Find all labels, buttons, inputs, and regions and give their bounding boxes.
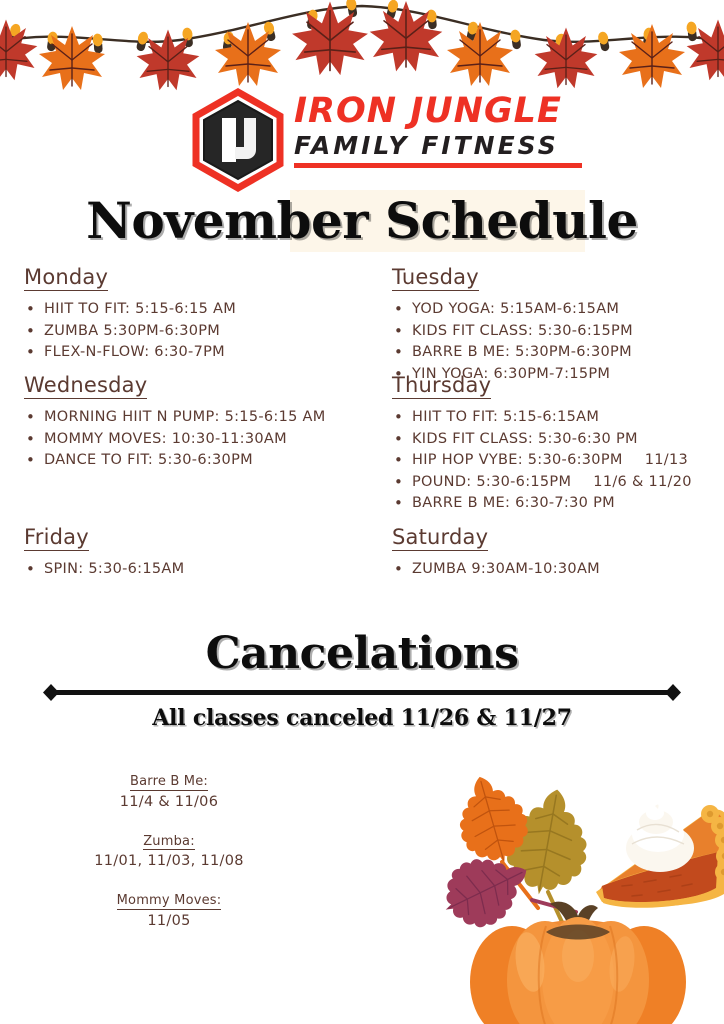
class-dates: 11/6 & 11/20 xyxy=(571,474,691,490)
day-heading-thursday: Thursday xyxy=(392,373,491,399)
class-label: DANCE TO FIT: 5:30-6:30PM xyxy=(44,452,253,468)
schedule-column-left: Monday HIIT TO FIT: 5:15-6:15 AM ZUMBA 5… xyxy=(24,265,374,515)
class-label: BARRE B ME: 5:30PM-6:30PM xyxy=(412,344,632,360)
logo-underline-rule xyxy=(294,163,582,168)
cancelation-group: Mommy Moves: 11/05 xyxy=(44,891,294,929)
day-block-monday: Monday HIIT TO FIT: 5:15-6:15 AM ZUMBA 5… xyxy=(24,265,236,364)
class-label: ZUMBA 9:30AM-10:30AM xyxy=(412,561,600,577)
autumn-bottom-decoration xyxy=(430,742,724,1024)
class-dates: 11/13 xyxy=(623,452,688,468)
list-item: ZUMBA 5:30PM-6:30PM xyxy=(24,321,236,342)
class-label: BARRE B ME: 6:30-7:30 PM xyxy=(412,495,615,511)
schedule-grid-weekdays: Monday HIIT TO FIT: 5:15-6:15 AM ZUMBA 5… xyxy=(0,265,724,515)
class-list-thursday: HIIT TO FIT: 5:15-6:15AM KIDS FIT CLASS:… xyxy=(392,407,692,514)
day-block-saturday: Saturday ZUMBA 9:30AM-10:30AM xyxy=(392,525,724,581)
class-list-saturday: ZUMBA 9:30AM-10:30AM xyxy=(392,559,724,580)
schedule-column-right: Tuesday YOD YOGA: 5:15AM-6:15AM KIDS FIT… xyxy=(392,265,724,515)
class-label: YOD YOGA: 5:15AM-6:15AM xyxy=(412,301,619,317)
class-list-wednesday: MORNING HIIT N PUMP: 5:15-6:15 AM MOMMY … xyxy=(24,407,326,471)
list-item: BARRE B ME: 6:30-7:30 PM xyxy=(392,493,692,514)
class-label: POUND: 5:30-6:15PM xyxy=(412,474,571,490)
class-label: HIIT TO FIT: 5:15-6:15AM xyxy=(412,409,599,425)
list-item: KIDS FIT CLASS: 5:30-6:30 PM xyxy=(392,429,692,450)
list-item: HIIT TO FIT: 5:15-6:15AM xyxy=(392,407,692,428)
list-item: YOD YOGA: 5:15AM-6:15AM xyxy=(392,299,633,320)
day-heading-saturday: Saturday xyxy=(392,525,488,551)
class-label: KIDS FIT CLASS: 5:30-6:30 PM xyxy=(412,431,638,447)
class-label: MORNING HIIT N PUMP: 5:15-6:15 AM xyxy=(44,409,326,425)
list-item: MOMMY MOVES: 10:30-11:30AM xyxy=(24,429,326,450)
list-item: SPIN: 5:30-6:15AM xyxy=(24,559,374,580)
class-label: FLEX-N-FLOW: 6:30-7PM xyxy=(44,344,225,360)
class-label: ZUMBA 5:30PM-6:30PM xyxy=(44,323,220,339)
day-block-wednesday: Wednesday MORNING HIIT N PUMP: 5:15-6:15… xyxy=(24,373,326,472)
class-label: HIP HOP VYBE: 5:30-6:30PM xyxy=(412,452,623,468)
logo-hexagon-icon xyxy=(186,88,290,192)
cancelation-class-name: Zumba: xyxy=(143,834,195,851)
brand-name-primary: IRON JUNGLE xyxy=(294,94,584,129)
schedule-grid-weekend: Friday SPIN: 5:30-6:15AM Saturday ZUMBA … xyxy=(0,525,724,605)
list-item: HIIT TO FIT: 5:15-6:15 AM xyxy=(24,299,236,320)
class-list-friday: SPIN: 5:30-6:15AM xyxy=(24,559,374,580)
page-title: November Schedule xyxy=(0,196,724,246)
day-heading-tuesday: Tuesday xyxy=(392,265,479,291)
autumn-garland-decoration xyxy=(0,0,724,96)
flyer-page: IRON JUNGLE FAMILY FITNESS November Sche… xyxy=(0,0,724,1024)
list-item: KIDS FIT CLASS: 5:30-6:15PM xyxy=(392,321,633,342)
list-item: DANCE TO FIT: 5:30-6:30PM xyxy=(24,450,326,471)
list-item: ZUMBA 9:30AM-10:30AM xyxy=(392,559,724,580)
day-heading-friday: Friday xyxy=(24,525,89,551)
cancelation-dates: 11/4 & 11/06 xyxy=(44,794,294,810)
cancelation-group: Zumba: 11/01, 11/03, 11/08 xyxy=(44,832,294,870)
cancelation-class-name: Barre B Me: xyxy=(130,774,208,791)
cancelations-subheading: All classes canceled 11/26 & 11/27 xyxy=(0,705,724,731)
day-heading-wednesday: Wednesday xyxy=(24,373,147,399)
class-label: KIDS FIT CLASS: 5:30-6:15PM xyxy=(412,323,633,339)
day-block-thursday: Thursday HIIT TO FIT: 5:15-6:15AM KIDS F… xyxy=(392,373,692,514)
cancelation-dates: 11/05 xyxy=(44,913,294,929)
class-list-monday: HIIT TO FIT: 5:15-6:15 AM ZUMBA 5:30PM-6… xyxy=(24,299,236,363)
class-label: HIIT TO FIT: 5:15-6:15 AM xyxy=(44,301,236,317)
day-block-tuesday: Tuesday YOD YOGA: 5:15AM-6:15AM KIDS FIT… xyxy=(392,265,633,385)
brand-name-secondary: FAMILY FITNESS xyxy=(294,133,584,158)
list-item: BARRE B ME: 5:30PM-6:30PM xyxy=(392,342,633,363)
cancelation-group: Barre B Me: 11/4 & 11/06 xyxy=(44,772,294,810)
cancelation-dates: 11/01, 11/03, 11/08 xyxy=(44,853,294,869)
brand-logo: IRON JUNGLE FAMILY FITNESS xyxy=(186,88,586,184)
class-label: MOMMY MOVES: 10:30-11:30AM xyxy=(44,431,287,447)
class-label: SPIN: 5:30-6:15AM xyxy=(44,561,184,577)
day-heading-monday: Monday xyxy=(24,265,108,291)
day-block-friday: Friday SPIN: 5:30-6:15AM xyxy=(24,525,374,581)
cancelation-class-name: Mommy Moves: xyxy=(117,893,222,910)
cancelations-detail-list: Barre B Me: 11/4 & 11/06 Zumba: 11/01, 1… xyxy=(44,772,294,951)
list-item: POUND: 5:30-6:15PM11/6 & 11/20 xyxy=(392,472,692,493)
list-item: HIP HOP VYBE: 5:30-6:30PM11/13 xyxy=(392,450,692,471)
cancelations-heading: Cancelations xyxy=(0,632,724,676)
diamond-divider xyxy=(40,682,684,704)
list-item: FLEX-N-FLOW: 6:30-7PM xyxy=(24,342,236,363)
list-item: MORNING HIIT N PUMP: 5:15-6:15 AM xyxy=(24,407,326,428)
